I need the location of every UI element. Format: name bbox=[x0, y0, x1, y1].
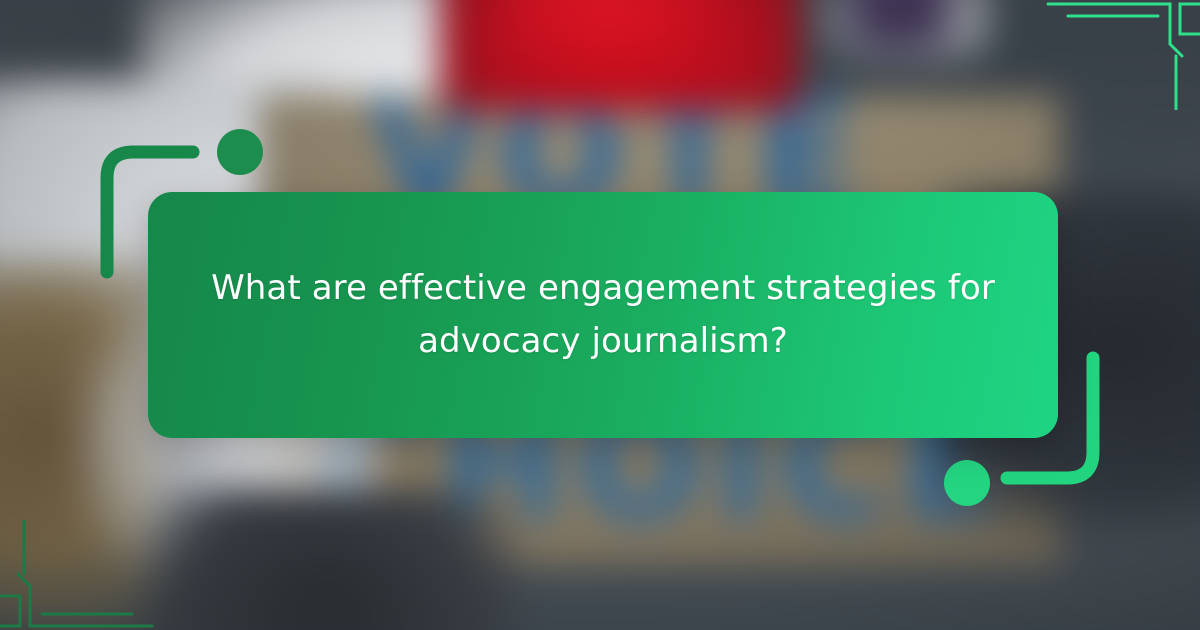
question-card: What are effective engagement strategies… bbox=[148, 192, 1058, 438]
social-card-canvas: VOTE CHOICE bbox=[0, 0, 1200, 630]
question-text: What are effective engagement strategies… bbox=[204, 262, 1002, 367]
